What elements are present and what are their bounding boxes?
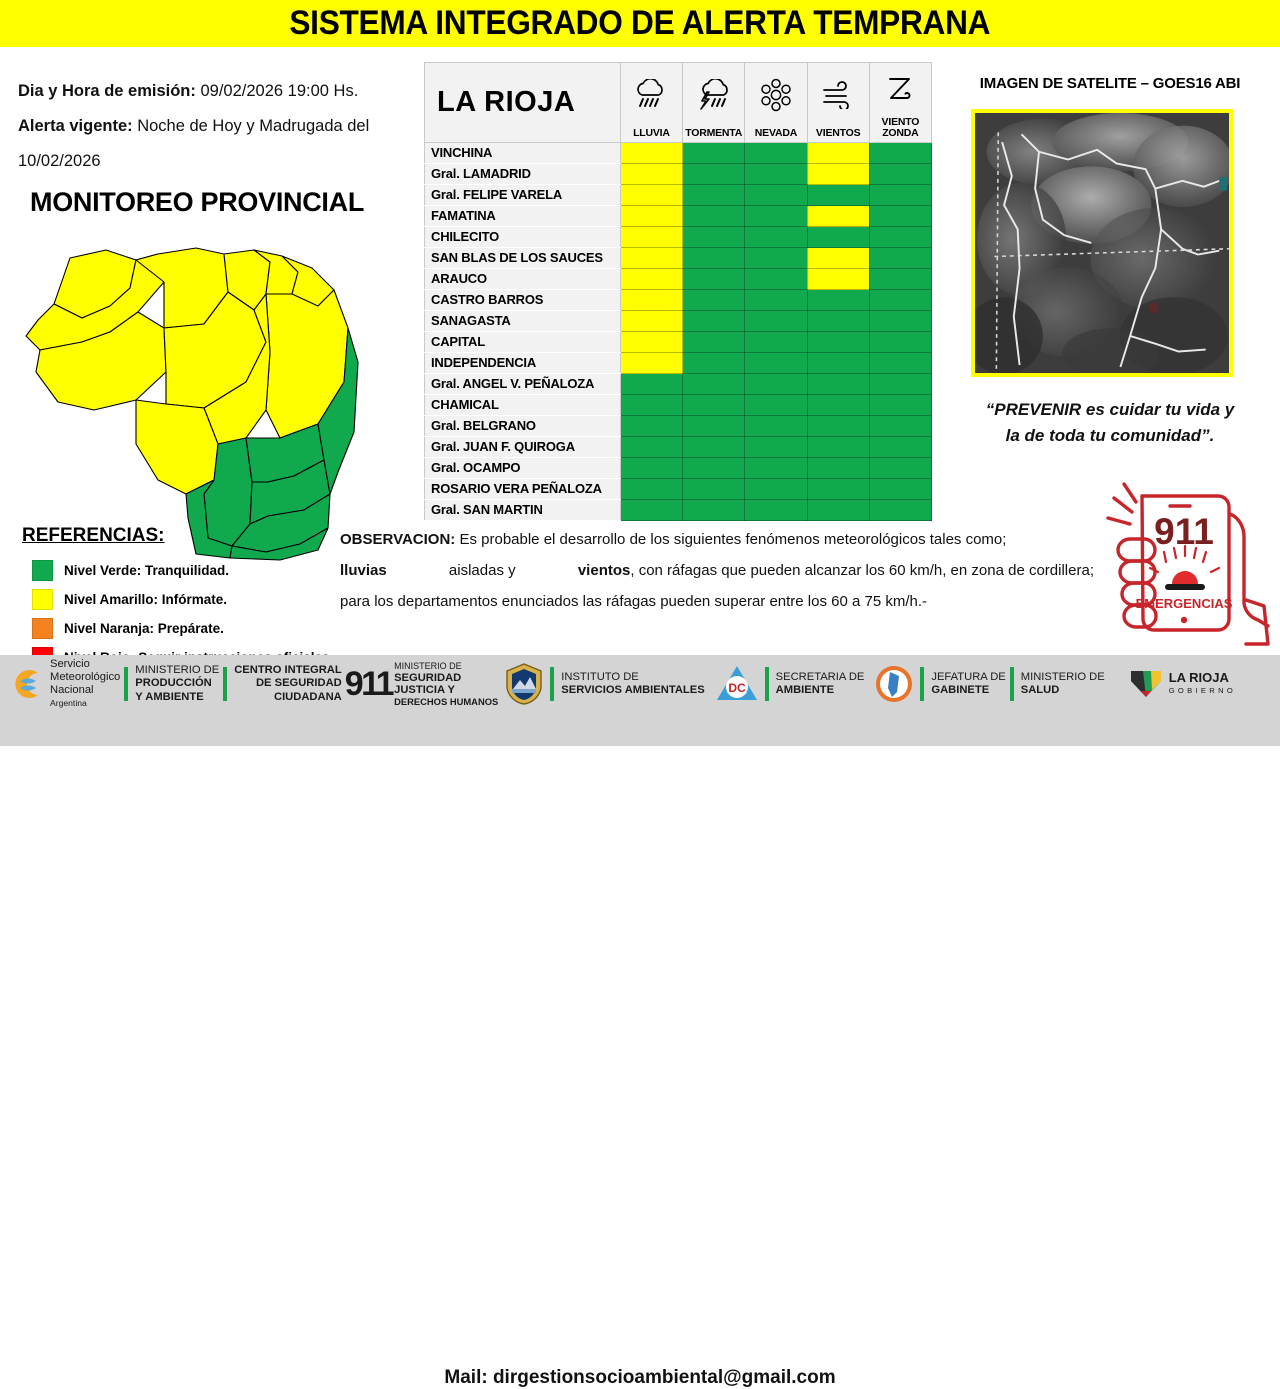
- divider-3: [550, 667, 554, 701]
- alert-cell-viento-zonda: [869, 206, 931, 227]
- column-label-tormenta: TORMENTA: [685, 128, 742, 139]
- department-name: Gral. OCAMPO: [425, 458, 621, 479]
- province-name: LA RIOJA: [437, 86, 575, 118]
- alert-matrix-table: LA RIOJA LLUVIA: [424, 62, 932, 521]
- column-header-vientos: VIENTOS: [807, 63, 869, 143]
- alert-cell-lluvia: [620, 332, 682, 353]
- alert-cell-viento-zonda: [869, 290, 931, 311]
- alert-cell-tormenta: [683, 353, 745, 374]
- department-name: CAPITAL: [425, 332, 621, 353]
- alert-cell-lluvia: [620, 227, 682, 248]
- smn-line-1: Servicio: [50, 658, 120, 671]
- alert-cell-vientos: [807, 269, 869, 290]
- monitoring-title: MONITOREO PROVINCIAL: [30, 187, 364, 218]
- alert-cell-vientos: [807, 290, 869, 311]
- wind-icon: [820, 63, 856, 128]
- footer-email: Mail: dirgestionsocioambiental@gmail.com: [0, 1367, 1280, 1389]
- page-title: SISTEMA INTEGRADO DE ALERTA TEMPRANA: [290, 4, 991, 43]
- alert-cell-nevada: [745, 458, 807, 479]
- alert-cell-vientos: [807, 458, 869, 479]
- logo-servicio-meteorologico-nacional: Servicio Meteorológico Nacional Argentin…: [8, 659, 120, 709]
- satellite-title: IMAGEN DE SATELITE – GOES16 ABI: [940, 75, 1280, 92]
- alert-cell-lluvia: [620, 269, 682, 290]
- alert-cell-viento-zonda: [869, 185, 931, 206]
- alert-cell-lluvia: [620, 500, 682, 521]
- column-header-viento-zonda: VIENTO ZONDA: [869, 63, 931, 143]
- la-rioja-flag-icon: [1129, 669, 1163, 699]
- alert-cell-vientos: [807, 248, 869, 269]
- reference-item-amarillo: Nivel Amarillo: Infórmate.: [18, 585, 358, 614]
- alert-cell-viento-zonda: [869, 479, 931, 500]
- alert-cell-viento-zonda: [869, 248, 931, 269]
- smn-swirl-icon: [8, 664, 46, 704]
- alert-cell-tormenta: [683, 332, 745, 353]
- alert-cell-nevada: [745, 248, 807, 269]
- table-row: CHAMICAL: [425, 395, 932, 416]
- alert-cell-lluvia: [620, 374, 682, 395]
- table-row: CAPITAL: [425, 332, 932, 353]
- thunderstorm-cloud-icon: [695, 63, 733, 128]
- isa-line-2: SERVICIOS AMBIENTALES: [561, 684, 704, 697]
- table-row: FAMATINA: [425, 206, 932, 227]
- logo-ministerio-produccion-ambiente: MINISTERIO DE PRODUCCIÓN Y AMBIENTE: [135, 659, 219, 709]
- alert-cell-vientos: [807, 227, 869, 248]
- mpa-line-2: PRODUCCIÓN: [135, 677, 219, 690]
- emission-label: Dia y Hora de emisión:: [18, 82, 196, 100]
- alert-cell-viento-zonda: [869, 332, 931, 353]
- alert-cell-tormenta: [683, 227, 745, 248]
- smn-line-3: Nacional: [50, 684, 120, 697]
- divider-4: [765, 667, 769, 701]
- logo-secretaria-ambiente: DC SECRETARIA DE AMBIENTE: [715, 659, 865, 709]
- alert-cell-vientos: [807, 416, 869, 437]
- alert-cell-nevada: [745, 437, 807, 458]
- quote-line-1: “PREVENIR es cuidar tu vida y: [940, 397, 1280, 423]
- column-label-nevada: NEVADA: [755, 128, 797, 139]
- alert-cell-vientos: [807, 143, 869, 164]
- department-name: Gral. SAN MARTIN: [425, 500, 621, 521]
- emergency-label: EMERGENCIAS: [1136, 596, 1233, 611]
- alert-cell-tormenta: [683, 437, 745, 458]
- divider-6: [1010, 667, 1014, 701]
- prevention-quote: “PREVENIR es cuidar tu vida y la de toda…: [940, 397, 1280, 449]
- table-row: CASTRO BARROS: [425, 290, 932, 311]
- alert-cell-tormenta: [683, 206, 745, 227]
- emission-value: 09/02/2026 19:00 Hs.: [200, 82, 358, 100]
- divider-2: [223, 667, 227, 701]
- alert-cell-viento-zonda: [869, 164, 931, 185]
- gabinete-seal-icon: [874, 664, 914, 704]
- reference-item-verde: Nivel Verde: Tranquilidad.: [18, 556, 358, 585]
- rain-cloud-icon: [633, 63, 669, 128]
- observation-text-1: Es probable el desarrollo de los siguien…: [459, 531, 1006, 548]
- lr-line-2: G O B I E R N O: [1169, 684, 1234, 697]
- alert-cell-nevada: [745, 500, 807, 521]
- alert-cell-lluvia: [620, 479, 682, 500]
- alert-cell-lluvia: [620, 248, 682, 269]
- column-header-tormenta: TORMENTA: [683, 63, 745, 143]
- institution-logo-strip: Servicio Meteorológico Nacional Argentin…: [0, 657, 1280, 711]
- alert-validity-row: Alerta vigente: Noche de Hoy y Madrugada…: [18, 117, 369, 136]
- department-name: FAMATINA: [425, 206, 621, 227]
- alert-table-body: VINCHINAGral. LAMADRIDGral. FELIPE VAREL…: [425, 143, 932, 521]
- alert-cell-nevada: [745, 332, 807, 353]
- alert-cell-lluvia: [620, 164, 682, 185]
- department-name: Gral. FELIPE VARELA: [425, 185, 621, 206]
- swatch-amarillo: [32, 589, 53, 610]
- table-row: ARAUCO: [425, 269, 932, 290]
- mpa-line-3: Y AMBIENTE: [135, 691, 219, 704]
- table-header-row: LA RIOJA LLUVIA: [425, 63, 932, 143]
- cis-line-3: CIUDADANA: [234, 691, 342, 704]
- defensa-civil-icon: DC: [715, 662, 759, 706]
- alert-cell-tormenta: [683, 458, 745, 479]
- alert-cell-vientos: [807, 311, 869, 332]
- alert-cell-viento-zonda: [869, 374, 931, 395]
- alert-cell-nevada: [745, 290, 807, 311]
- cis-line-1: CENTRO INTEGRAL: [234, 664, 342, 677]
- alert-cell-vientos: [807, 185, 869, 206]
- department-name: VINCHINA: [425, 143, 621, 164]
- department-name: SAN BLAS DE LOS SAUCES: [425, 248, 621, 269]
- alert-cell-nevada: [745, 311, 807, 332]
- alert-cell-nevada: [745, 206, 807, 227]
- jg-line-2: GABINETE: [931, 684, 1005, 697]
- table-row: Gral. JUAN F. QUIROGA: [425, 437, 932, 458]
- department-name: INDEPENDENCIA: [425, 353, 621, 374]
- alert-cell-viento-zonda: [869, 500, 931, 521]
- alert-cell-lluvia: [620, 290, 682, 311]
- alert-cell-tormenta: [683, 248, 745, 269]
- emergency-911-graphic: 911 EMERGENCIAS: [1096, 472, 1276, 650]
- alert-cell-vientos: [807, 164, 869, 185]
- table-row: SANAGASTA: [425, 311, 932, 332]
- logo-ministerio-seguridad-justicia: MINISTERIO DE SEGURIDAD JUSTICIA Y DEREC…: [394, 659, 498, 709]
- alert-validity-row-2: 10/02/2026: [18, 152, 101, 171]
- alert-cell-viento-zonda: [869, 143, 931, 164]
- alert-cell-vientos: [807, 500, 869, 521]
- table-row: VINCHINA: [425, 143, 932, 164]
- alert-cell-tormenta: [683, 143, 745, 164]
- alert-cell-lluvia: [620, 458, 682, 479]
- sa-line-2: AMBIENTE: [776, 684, 865, 697]
- lr-line-1: LA RIOJA: [1169, 671, 1234, 684]
- table-row: Gral. FELIPE VARELA: [425, 185, 932, 206]
- alert-cell-viento-zonda: [869, 458, 931, 479]
- alert-cell-vientos: [807, 395, 869, 416]
- map-dept-independencia: [136, 400, 218, 494]
- alert-cell-nevada: [745, 227, 807, 248]
- alert-cell-nevada: [745, 353, 807, 374]
- department-name: CHILECITO: [425, 227, 621, 248]
- swatch-verde: [32, 560, 53, 581]
- snowflake-icon: [759, 63, 793, 128]
- alert-cell-viento-zonda: [869, 311, 931, 332]
- isa-line-1: INSTITUTO DE: [561, 671, 704, 684]
- smn-line-4: Argentina: [50, 697, 120, 710]
- sa-line-1: SECRETARIA DE: [776, 671, 865, 684]
- alert-cell-lluvia: [620, 311, 682, 332]
- alert-cell-viento-zonda: [869, 416, 931, 437]
- logo-jefatura-gabinete: JEFATURA DE GABINETE: [874, 659, 1005, 709]
- table-row: Gral. BELGRANO: [425, 416, 932, 437]
- alert-cell-nevada: [745, 164, 807, 185]
- alert-cell-vientos: [807, 479, 869, 500]
- satellite-image-frame: [971, 109, 1233, 377]
- alert-cell-viento-zonda: [869, 395, 931, 416]
- divider-5: [920, 667, 924, 701]
- logo-centro-integral-seguridad: CENTRO INTEGRAL DE SEGURIDAD CIUDADANA 9…: [234, 659, 394, 709]
- zonda-z-icon: [885, 63, 915, 117]
- department-name: ROSARIO VERA PEÑALOZA: [425, 479, 621, 500]
- table-row: SAN BLAS DE LOS SAUCES: [425, 248, 932, 269]
- police-shield-icon: [504, 662, 544, 706]
- emission-datetime-row: Dia y Hora de emisión: 09/02/2026 19:00 …: [18, 82, 358, 101]
- alert-cell-tormenta: [683, 269, 745, 290]
- alert-cell-lluvia: [620, 437, 682, 458]
- table-row: CHILECITO: [425, 227, 932, 248]
- divider-1: [124, 667, 128, 701]
- province-name-header: LA RIOJA: [425, 63, 621, 143]
- table-row: INDEPENDENCIA: [425, 353, 932, 374]
- ms-line-1: MINISTERIO DE: [1021, 671, 1105, 684]
- column-label-viento-zonda: VIENTO ZONDA: [882, 117, 920, 139]
- observation-lluvias: lluvias: [340, 562, 387, 579]
- column-header-lluvia: LLUVIA: [620, 63, 682, 143]
- reference-item-naranja: Nivel Naranja: Prepárate.: [18, 614, 358, 643]
- column-header-nevada: NEVADA: [745, 63, 807, 143]
- cis-line-2: DE SEGURIDAD: [234, 677, 342, 690]
- province-map: [18, 232, 368, 562]
- alert-cell-viento-zonda: [869, 437, 931, 458]
- column-label-vientos: VIENTOS: [816, 128, 861, 139]
- msj-line-3: JUSTICIA Y: [394, 684, 498, 696]
- alert-cell-nevada: [745, 374, 807, 395]
- reference-label-amarillo: Nivel Amarillo: Infórmate.: [64, 592, 227, 607]
- table-row: Gral. ANGEL V. PEÑALOZA: [425, 374, 932, 395]
- ms-line-2: SALUD: [1021, 684, 1105, 697]
- department-name: Gral. JUAN F. QUIROGA: [425, 437, 621, 458]
- alert-cell-vientos: [807, 374, 869, 395]
- reference-label-naranja: Nivel Naranja: Prepárate.: [64, 621, 224, 636]
- department-name: Gral. LAMADRID: [425, 164, 621, 185]
- alert-cell-tormenta: [683, 164, 745, 185]
- logo-la-rioja-gobierno: LA RIOJA G O B I E R N O: [1129, 659, 1234, 709]
- quote-line-2: la de toda tu comunidad”.: [940, 423, 1280, 449]
- msj-line-1: MINISTERIO DE: [394, 660, 498, 672]
- department-name: CHAMICAL: [425, 395, 621, 416]
- department-name: SANAGASTA: [425, 311, 621, 332]
- alert-cell-lluvia: [620, 416, 682, 437]
- alert-cell-tormenta: [683, 290, 745, 311]
- cis-911-number: 911: [345, 665, 392, 704]
- alert-cell-lluvia: [620, 353, 682, 374]
- alert-cell-nevada: [745, 395, 807, 416]
- alert-cell-nevada: [745, 143, 807, 164]
- references-title: REFERENCIAS:: [22, 525, 358, 547]
- alert-cell-lluvia: [620, 395, 682, 416]
- alert-cell-tormenta: [683, 311, 745, 332]
- mpa-line-1: MINISTERIO DE: [135, 664, 219, 677]
- validity-label: Alerta vigente:: [18, 117, 133, 135]
- department-name: CASTRO BARROS: [425, 290, 621, 311]
- table-row: Gral. LAMADRID: [425, 164, 932, 185]
- alert-cell-tormenta: [683, 416, 745, 437]
- alert-cell-tormenta: [683, 500, 745, 521]
- alert-cell-lluvia: [620, 143, 682, 164]
- jg-line-1: JEFATURA DE: [931, 671, 1005, 684]
- logo-instituto-servicios-ambientales: INSTITUTO DE SERVICIOS AMBIENTALES: [504, 659, 704, 709]
- reference-label-verde: Nivel Verde: Tranquilidad.: [64, 563, 229, 578]
- smn-line-2: Meteorológico: [50, 671, 120, 684]
- footer-bar: Servicio Meteorológico Nacional Argentin…: [0, 655, 1280, 746]
- alert-cell-vientos: [807, 332, 869, 353]
- table-row: ROSARIO VERA PEÑALOZA: [425, 479, 932, 500]
- page-title-bar: SISTEMA INTEGRADO DE ALERTA TEMPRANA: [0, 0, 1280, 47]
- department-name: ARAUCO: [425, 269, 621, 290]
- alert-cell-nevada: [745, 269, 807, 290]
- department-name: Gral. ANGEL V. PEÑALOZA: [425, 374, 621, 395]
- alert-cell-lluvia: [620, 206, 682, 227]
- table-row: Gral. OCAMPO: [425, 458, 932, 479]
- table-row: Gral. SAN MARTIN: [425, 500, 932, 521]
- msj-line-4: DERECHOS HUMANOS: [394, 696, 498, 708]
- observation-label: OBSERVACION:: [340, 531, 455, 548]
- alert-cell-nevada: [745, 479, 807, 500]
- alert-cell-tormenta: [683, 395, 745, 416]
- column-label-lluvia: LLUVIA: [633, 128, 670, 139]
- alert-cell-vientos: [807, 437, 869, 458]
- observation-vientos: vientos: [578, 562, 631, 579]
- alert-cell-tormenta: [683, 479, 745, 500]
- alert-cell-tormenta: [683, 374, 745, 395]
- satellite-image: [975, 113, 1229, 373]
- alert-cell-vientos: [807, 206, 869, 227]
- validity-value-2: 10/02/2026: [18, 152, 101, 170]
- swatch-naranja: [32, 618, 53, 639]
- alert-cell-viento-zonda: [869, 353, 931, 374]
- alert-cell-viento-zonda: [869, 227, 931, 248]
- validity-value: Noche de Hoy y Madrugada del: [137, 117, 369, 135]
- observation-aisladas: aisladas y: [449, 555, 516, 586]
- alert-cell-nevada: [745, 185, 807, 206]
- references-legend: REFERENCIAS: Nivel Verde: Tranquilidad. …: [18, 525, 358, 672]
- smn-text: Servicio Meteorológico Nacional Argentin…: [50, 658, 120, 711]
- alert-cell-viento-zonda: [869, 269, 931, 290]
- svg-text:DC: DC: [728, 681, 746, 695]
- alert-cell-nevada: [745, 416, 807, 437]
- alert-cell-vientos: [807, 353, 869, 374]
- logo-ministerio-salud: MINISTERIO DE SALUD: [1021, 659, 1105, 709]
- alert-cell-lluvia: [620, 185, 682, 206]
- msj-line-2: SEGURIDAD: [394, 672, 498, 684]
- department-name: Gral. BELGRANO: [425, 416, 621, 437]
- alert-cell-tormenta: [683, 185, 745, 206]
